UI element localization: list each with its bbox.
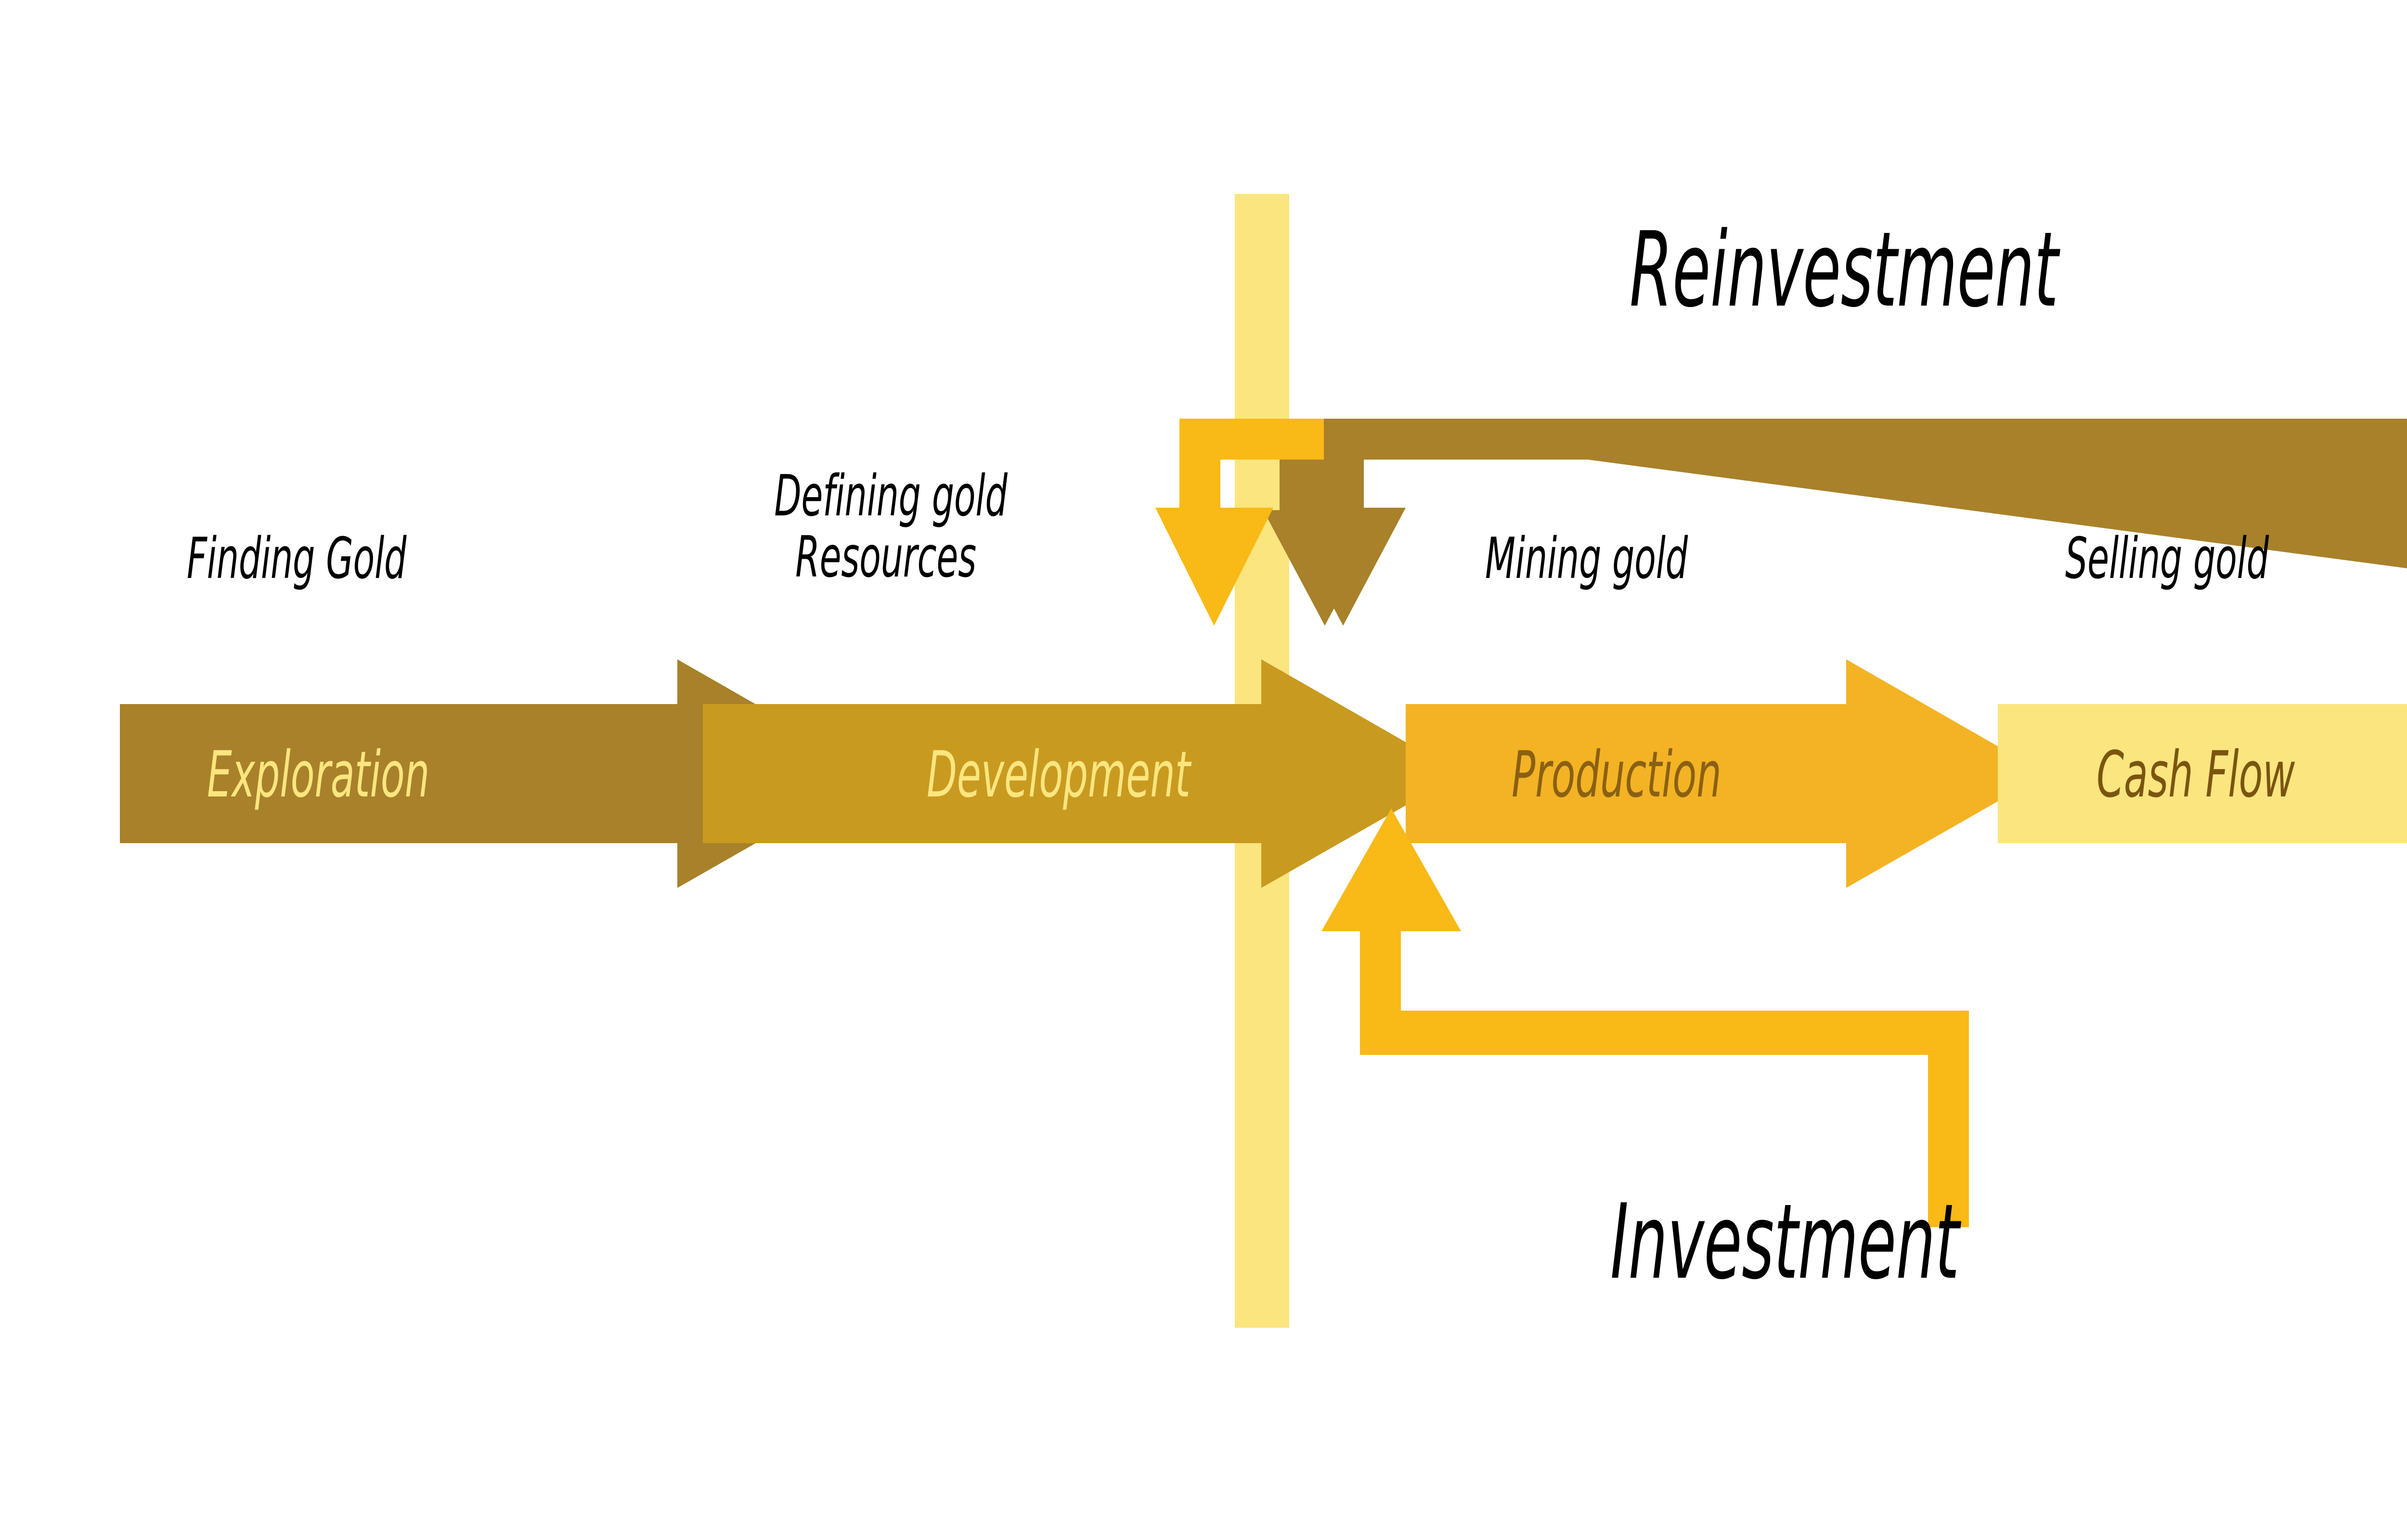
label-investment: Investment [1610, 1181, 1959, 1302]
stage-label-cashflow: Cash Flow [2096, 738, 2295, 812]
label-selling-gold: Selling gold [2065, 528, 2269, 589]
label-defining-gold-line1: Defining gold [774, 465, 1007, 526]
stage-arrow-production[interactable] [1406, 659, 2046, 888]
diagram-canvas: Finding Gold Defining gold Resources Min… [0, 0, 2407, 1540]
label-reinvestment: Reinvestment [1630, 209, 2058, 330]
stage-label-development: Development [927, 738, 1191, 812]
label-mining-gold: Mining gold [1485, 528, 1688, 589]
label-defining-gold-line2: Resources [795, 526, 976, 588]
label-finding-gold: Finding Gold [187, 528, 406, 589]
label-defining-gold-resources: Defining gold Resources [703, 496, 1069, 618]
stage-label-exploration: Exploration [207, 738, 429, 812]
stage-label-production: Production [1512, 738, 1721, 812]
